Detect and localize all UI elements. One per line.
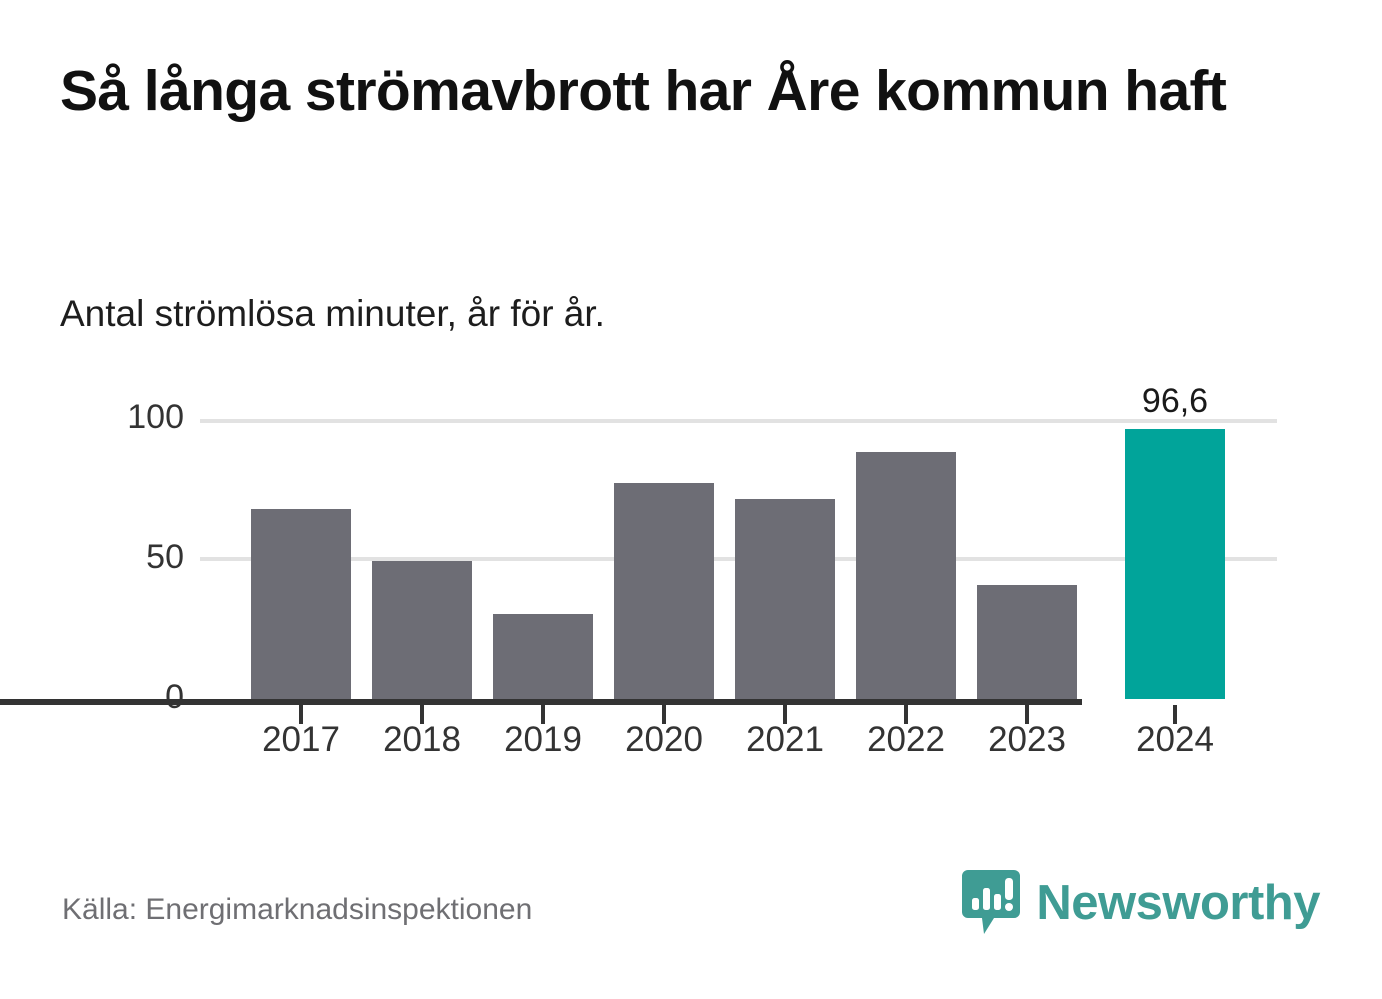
bar-2019[interactable] (493, 614, 593, 699)
bar-2021[interactable] (735, 499, 835, 699)
chart-canvas: Så långa strömavbrott har Åre kommun haf… (0, 0, 1382, 999)
newsworthy-logo: Newsworthy (960, 868, 1320, 938)
bar-chart: 100 50 0 96,6 2017 2018 2019 20 (0, 0, 1382, 999)
bar-series (0, 0, 1382, 999)
speech-bubble-barchart-icon (960, 868, 1022, 938)
bar-2022[interactable] (856, 452, 956, 699)
x-tick-label-2023: 2023 (947, 722, 1107, 757)
x-tick-label-2024: 2024 (1095, 722, 1255, 757)
bar-2018[interactable] (372, 561, 472, 699)
logo-wordmark: Newsworthy (1036, 879, 1320, 928)
bar-2023[interactable] (977, 585, 1077, 699)
bar-2017[interactable] (251, 509, 351, 699)
bar-2024[interactable] (1125, 429, 1225, 699)
bar-value-label-2024: 96,6 (1095, 384, 1255, 418)
bar-2020[interactable] (614, 483, 714, 699)
source-note: Källa: Energimarknadsinspektionen (62, 895, 532, 925)
